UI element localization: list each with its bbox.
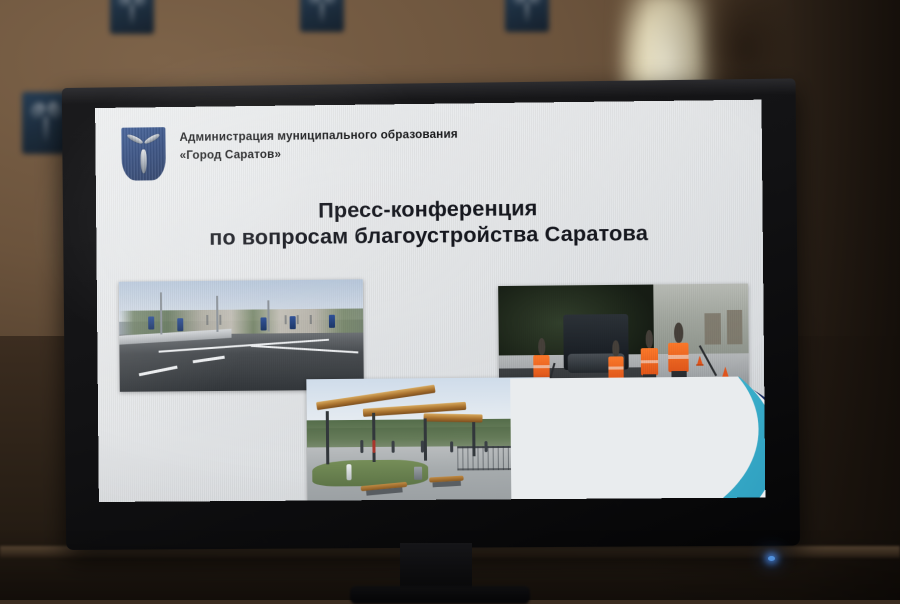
safety-vest <box>534 355 550 380</box>
pedestrian <box>421 441 424 453</box>
monitor: Администрация муниципального образования… <box>64 88 790 550</box>
header-line-1: Администрация муниципального образования <box>179 126 457 147</box>
slide-header: Администрация муниципального образования… <box>121 120 741 181</box>
power-led-icon <box>768 556 775 561</box>
saratov-arms-icon <box>31 101 62 146</box>
worker-head <box>613 341 620 357</box>
street-banner <box>290 316 296 329</box>
saratov-arms-icon <box>308 0 336 25</box>
header-text-block: Администрация муниципального образования… <box>179 124 458 165</box>
light-pole <box>216 296 218 331</box>
slide-title: Пресс-конференция по вопросам благоустро… <box>96 193 763 253</box>
monitor-stand-base <box>350 586 530 604</box>
pedestrian <box>392 441 395 453</box>
wall-banner-top-left <box>110 0 154 34</box>
safety-vest <box>641 348 659 375</box>
bollard <box>346 465 351 481</box>
pergola-column <box>326 411 330 465</box>
street-banner <box>148 317 154 330</box>
traffic-cone-icon <box>697 355 703 364</box>
light-pole <box>268 300 270 331</box>
safety-vest <box>668 343 689 372</box>
pedestrian <box>360 440 363 453</box>
header-line-2: «Город Саратов» <box>180 144 458 165</box>
worker-head <box>538 338 545 355</box>
photo-new-road <box>119 279 364 391</box>
pergola-column <box>423 419 426 461</box>
worker-head <box>674 323 683 343</box>
wall-banner-top-center <box>300 0 344 32</box>
emblem-texture <box>121 127 166 181</box>
waste-bin <box>414 467 422 480</box>
pedestrian <box>450 442 453 453</box>
pedestrian <box>484 442 487 453</box>
monitor-screen: Администрация муниципального образования… <box>95 100 765 502</box>
saratov-arms-icon <box>118 0 146 27</box>
wall-banner-top-right <box>505 0 549 32</box>
presentation-slide: Администрация муниципального образования… <box>95 100 765 502</box>
pergola-column <box>372 413 375 462</box>
saratov-arms-icon <box>513 0 541 25</box>
swoosh-band-background <box>510 376 759 499</box>
street-banner <box>260 318 266 331</box>
saratov-coat-of-arms-icon <box>121 127 166 181</box>
street-banner <box>329 315 335 328</box>
corner-swoosh-decoration <box>510 376 765 499</box>
street-banner <box>178 319 184 332</box>
pedestrian <box>372 440 375 453</box>
background-street <box>643 284 749 362</box>
